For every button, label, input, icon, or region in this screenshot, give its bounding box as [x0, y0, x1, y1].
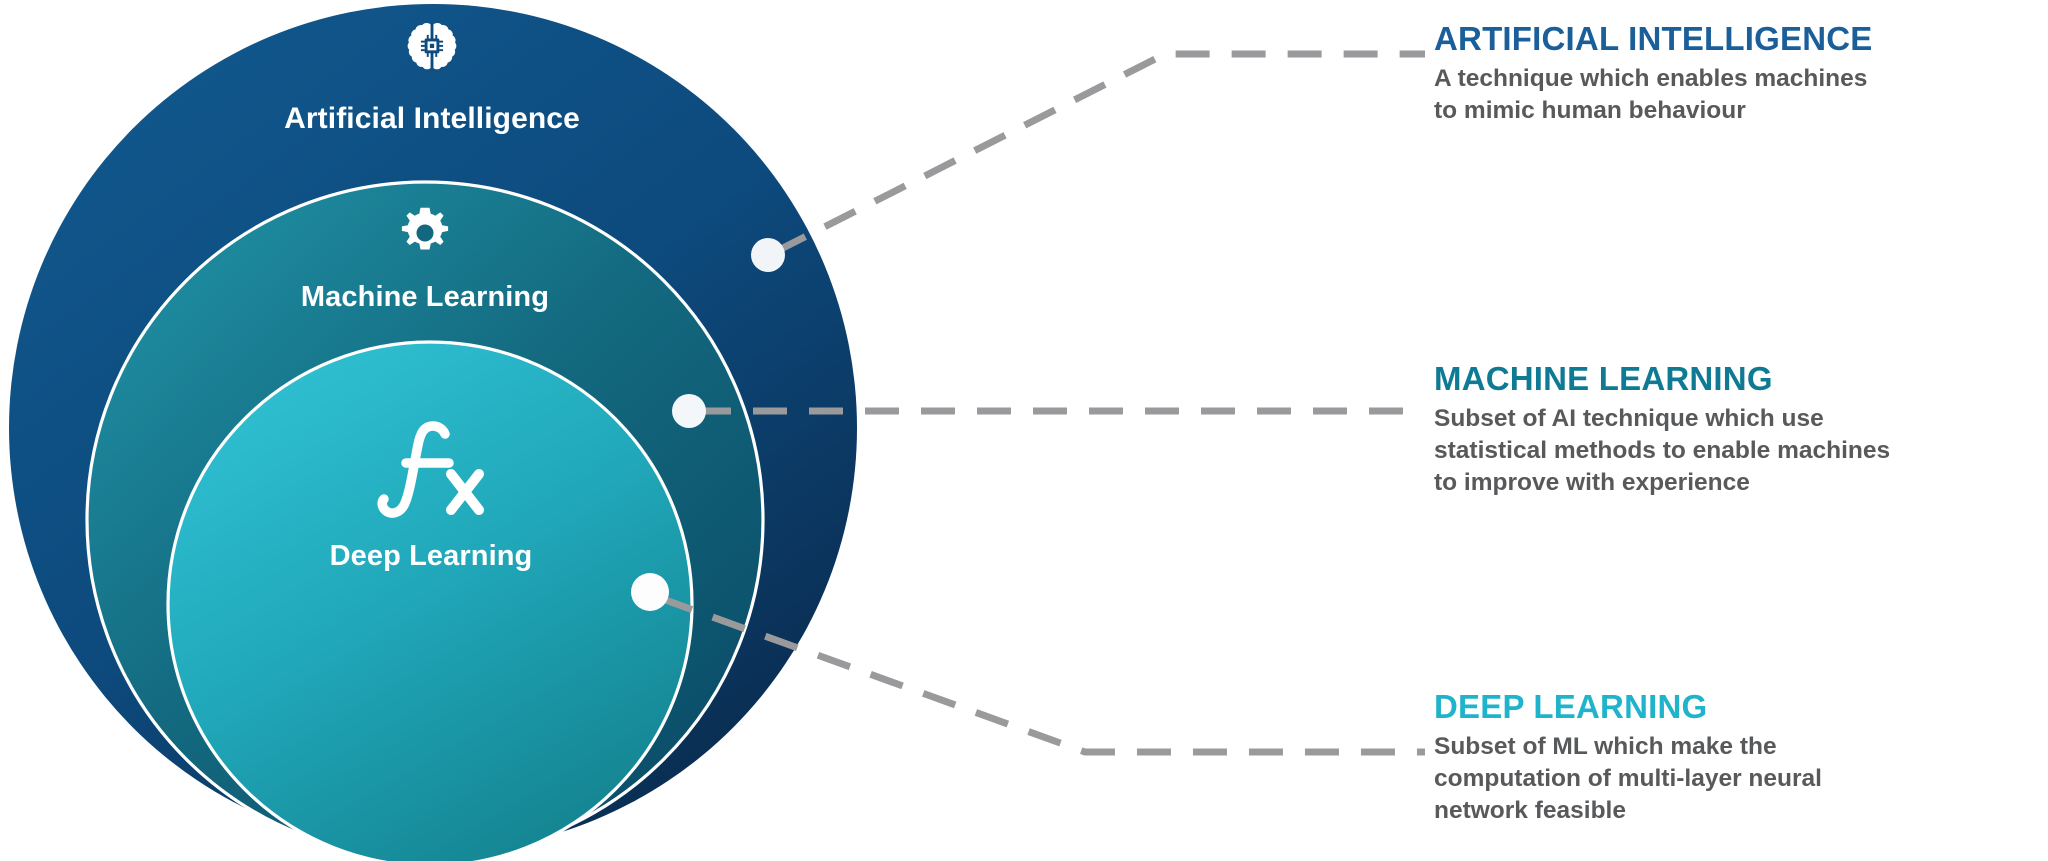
info-title-artificial-intelligence: ARTIFICIAL INTELLIGENCE	[1434, 22, 2034, 57]
info-block-artificial-intelligence: ARTIFICIAL INTELLIGENCE A technique whic…	[1434, 22, 2034, 127]
circle-deep-learning[interactable]	[168, 342, 692, 861]
connector-dot-artificial-intelligence[interactable]	[751, 238, 785, 272]
leader-line-artificial-intelligence	[775, 54, 1425, 252]
info-body-line: computation of multi-layer neural	[1434, 765, 1822, 792]
info-body-line: to mimic human behaviour	[1434, 97, 1746, 124]
connector-dot-deep-learning[interactable]	[631, 573, 669, 611]
info-body-line: A technique which enables machines	[1434, 65, 1867, 92]
connector-dot-machine-learning[interactable]	[672, 394, 706, 428]
info-body-machine-learning: Subset of AI technique which use statist…	[1434, 403, 2034, 499]
info-block-deep-learning: DEEP LEARNING Subset of ML which make th…	[1434, 690, 2034, 827]
info-body-deep-learning: Subset of ML which make the computation …	[1434, 731, 2034, 827]
info-body-line: to improve with experience	[1434, 469, 1750, 496]
info-title-deep-learning: DEEP LEARNING	[1434, 690, 2034, 725]
info-body-artificial-intelligence: A technique which enables machines to mi…	[1434, 63, 2034, 127]
info-block-machine-learning: MACHINE LEARNING Subset of AI technique …	[1434, 362, 2034, 499]
diagram-canvas: Artificial Intelligence Machine Learning…	[0, 0, 2048, 861]
info-title-machine-learning: MACHINE LEARNING	[1434, 362, 2034, 397]
info-body-line: Subset of ML which make the	[1434, 733, 1777, 760]
info-body-line: statistical methods to enable machines	[1434, 437, 1890, 464]
info-body-line: Subset of AI technique which use	[1434, 405, 1824, 432]
info-body-line: network feasible	[1434, 797, 1626, 824]
